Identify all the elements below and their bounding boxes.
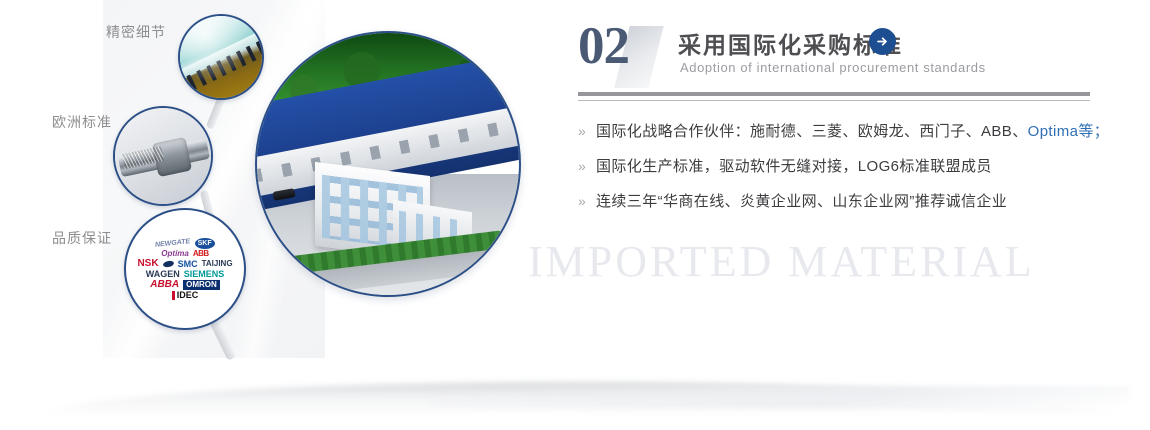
list-item-text-plain: 连续三年“华商在线、炎黄企业网、山东企业网”推荐诚信企业 — [596, 193, 1007, 210]
bottom-shadow-highlight — [430, 386, 1130, 408]
omron-logo: OMRON — [183, 280, 220, 290]
arrow-right-icon[interactable] — [869, 28, 896, 55]
list-item-text: 国际化生产标准，驱动软件无缝对接，LOG6标准联盟成员 — [596, 155, 992, 176]
list-item-text-highlight: Optima等； — [1028, 123, 1110, 140]
brand-logo-cluster: NEWGATE SKF Optima ABB NSK SMC TAIJING W… — [126, 210, 244, 328]
divider-thin — [578, 100, 1090, 101]
idec-logo: IDEC — [172, 291, 199, 300]
nsk-logo: NSK — [137, 259, 158, 269]
section-header: 02 采用国际化采购标准 Adoption of international p… — [578, 22, 1098, 90]
bullet-marker-icon: » — [578, 193, 596, 209]
gloss-highlight — [180, 16, 262, 98]
logo-row: NSK SMC TAIJING — [137, 259, 232, 269]
bullet-marker-icon: » — [578, 158, 596, 174]
wagen-logo: WAGEN — [146, 270, 180, 279]
watermark-text: IMPORTED MATERIAL — [528, 236, 1035, 287]
list-item: » 连续三年“华商在线、炎黄企业网、山东企业网”推荐诚信企业 — [578, 190, 1098, 211]
newgate-logo: NEWGATE — [155, 238, 191, 249]
label-european-standard: 欧洲标准 — [52, 112, 112, 132]
brand-logos-photo: NEWGATE SKF Optima ABB NSK SMC TAIJING W… — [124, 208, 246, 330]
label-quality-guarantee: 品质保证 — [52, 228, 112, 248]
logo-row: ABBA OMRON — [150, 280, 220, 290]
ball-screw-illustration — [115, 108, 211, 204]
taijing-logo: TAIJING — [202, 260, 233, 268]
logo-row: Optima ABB — [161, 250, 208, 258]
list-item-text-plain: 国际化生产标准，驱动软件无缝对接，LOG6标准联盟成员 — [596, 158, 992, 175]
list-item: » 国际化战略合作伙伴：施耐德、三菱、欧姆龙、西门子、ABB、Optima等； — [578, 120, 1098, 141]
gear-teeth-illustration — [180, 16, 262, 98]
smc-dot-icon — [162, 260, 174, 268]
logo-row: IDEC — [172, 291, 199, 300]
optima-logo: Optima — [161, 250, 189, 258]
page-subtitle: Adoption of international procurement st… — [680, 60, 986, 75]
content-column: 02 采用国际化采购标准 Adoption of international p… — [578, 22, 1098, 90]
list-item-text: 连续三年“华商在线、炎黄企业网、山东企业网”推荐诚信企业 — [596, 190, 1007, 211]
skf-logo: SKF — [195, 238, 215, 249]
logo-row: NEWGATE SKF — [155, 238, 214, 249]
factory-aerial-photo — [255, 31, 521, 297]
list-item-text-plain: 国际化战略合作伙伴：施耐德、三菱、欧姆龙、西门子、ABB、 — [596, 123, 1028, 140]
ball-screw-photo — [113, 106, 213, 206]
section-number: 02 — [578, 20, 629, 73]
logo-row: WAGEN SIEMENS — [146, 270, 225, 279]
abb-logo: ABB — [193, 250, 209, 258]
smc-logo: SMC — [178, 260, 198, 269]
feature-list: » 国际化战略合作伙伴：施耐德、三菱、欧姆龙、西门子、ABB、Optima等； … — [578, 120, 1098, 225]
label-precision-detail: 精密细节 — [106, 22, 166, 42]
abba-logo: ABBA — [150, 280, 179, 290]
siemens-logo: SIEMENS — [184, 270, 225, 279]
promo-banner: 精密细节 欧洲标准 品质保证 NEWGATE SKF Optima ABB — [0, 0, 1150, 430]
bullet-marker-icon: » — [578, 123, 596, 139]
divider-thick — [578, 92, 1090, 96]
list-item-text: 国际化战略合作伙伴：施耐德、三菱、欧姆龙、西门子、ABB、Optima等； — [596, 120, 1109, 141]
list-item: » 国际化生产标准，驱动软件无缝对接，LOG6标准联盟成员 — [578, 155, 1098, 176]
gear-teeth-photo — [178, 14, 264, 100]
